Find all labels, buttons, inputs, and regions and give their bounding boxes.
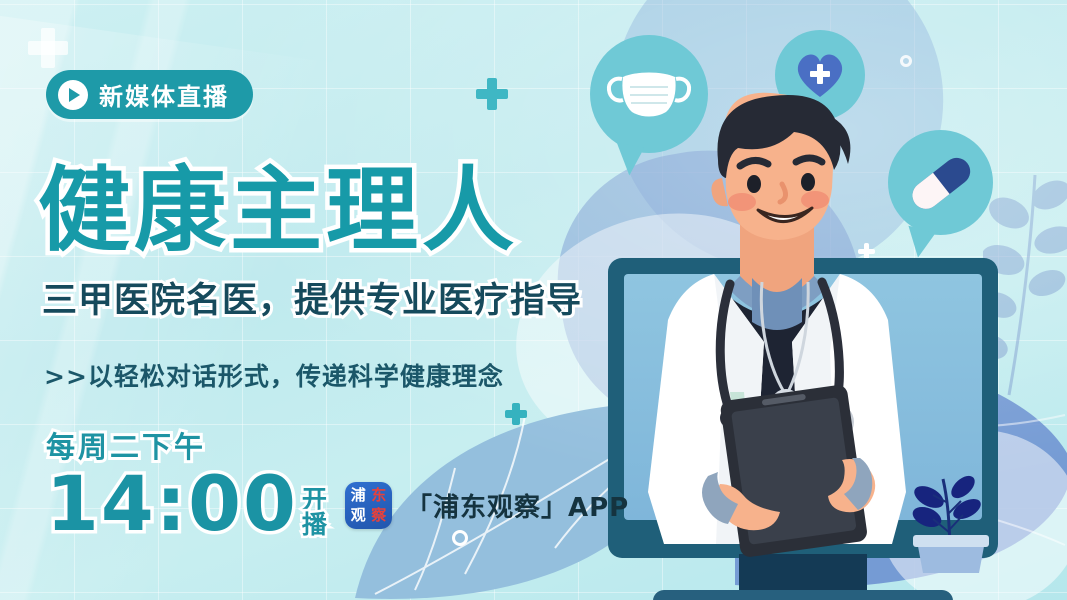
medical-cross-icon <box>28 28 68 68</box>
page-tagline: >>以轻松对话形式，传递科学健康理念 <box>44 357 504 393</box>
app-promo[interactable]: 浦 东 观 察 「浦东观察」APP <box>345 482 629 529</box>
app-logo-char-2: 东 <box>369 485 390 506</box>
schedule-suffix-line2: 播 <box>302 512 327 537</box>
app-logo-char-3: 观 <box>348 506 369 527</box>
app-name-label: 「浦东观察」APP <box>406 487 629 524</box>
ring-dot-decoration <box>900 55 912 67</box>
medical-cross-icon <box>505 403 527 425</box>
ring-dot-decoration <box>452 530 468 546</box>
schedule-time-row: 14:00 开 播 <box>46 468 346 541</box>
app-logo-char-1: 浦 <box>348 485 369 506</box>
health-livestream-poster: 新媒体直播 健康主理人 三甲医院名医，提供专业医疗指导 >>以轻松对话形式，传递… <box>0 0 1067 600</box>
schedule-suffix: 开 播 <box>302 487 327 537</box>
medical-cross-icon <box>476 78 508 110</box>
schedule-time: 14:00 <box>46 468 298 541</box>
page-subtitle: 三甲医院名医，提供专业医疗指导 <box>42 272 582 323</box>
potted-plant <box>905 455 995 575</box>
doctor-illustration <box>612 92 942 562</box>
app-logo-icon: 浦 东 观 察 <box>345 482 392 529</box>
app-logo-char-4: 察 <box>369 506 390 527</box>
page-title: 健康主理人 <box>38 136 518 269</box>
monitor-base <box>653 590 953 600</box>
schedule-suffix-line1: 开 <box>302 487 327 512</box>
play-icon <box>58 80 88 110</box>
live-badge[interactable]: 新媒体直播 <box>46 70 253 119</box>
live-badge-label: 新媒体直播 <box>99 77 229 112</box>
schedule-block: 每周二下午 14:00 开 播 <box>46 424 346 541</box>
